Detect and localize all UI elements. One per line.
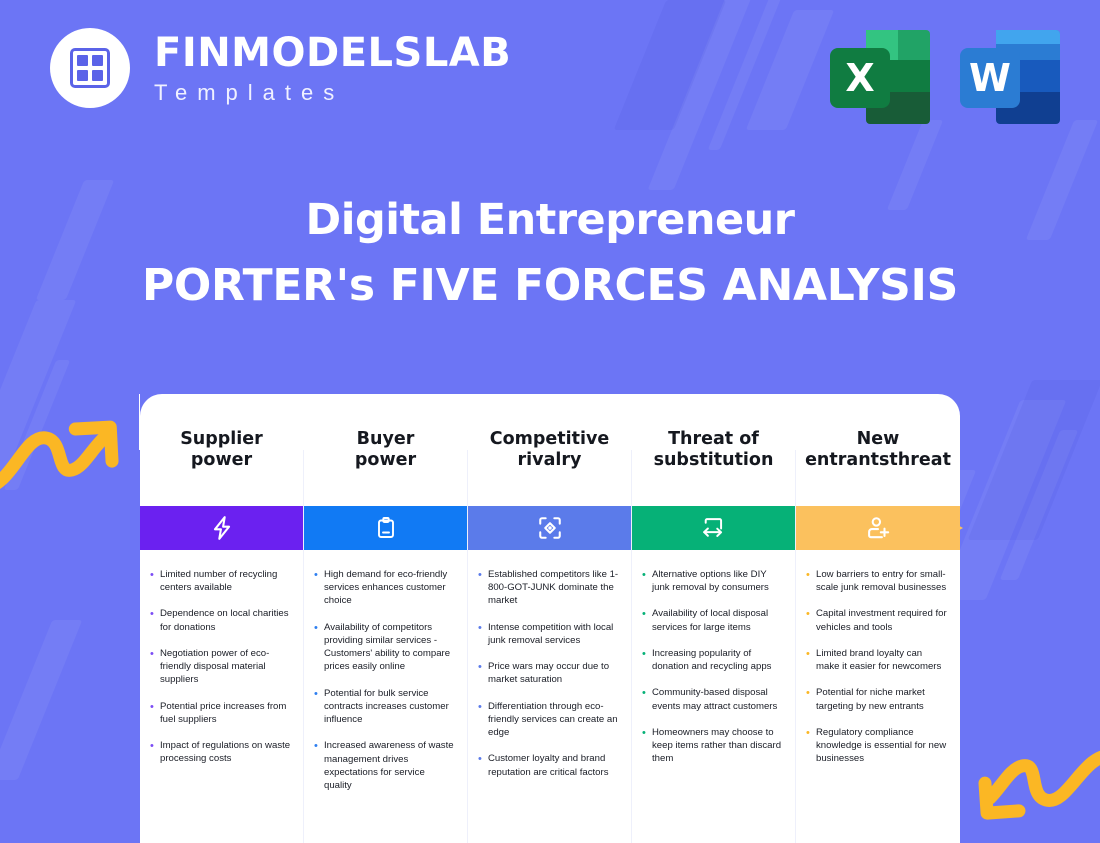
column-header: Buyer power [304,394,467,506]
page-title: PORTER's FIVE FORCES ANALYSIS [0,261,1100,312]
list-item: •Increasing popularity of donation and r… [642,647,783,673]
bullet-list: •Established competitors like 1-800-GOT-… [468,550,631,779]
force-column-buyer-power[interactable]: Buyer power •High demand for eco-friendl… [304,394,468,843]
list-item: •Dependence on local charities for donat… [150,607,291,633]
column-title-line2: power [355,450,416,470]
word-icon-letter: W [960,48,1020,108]
column-title-line2: power [191,450,252,470]
column-title-line2: rivalry [518,450,582,470]
grid-logo-icon [70,48,110,88]
brand-mark [50,28,130,108]
list-item: •Regulatory compliance knowledge is esse… [806,726,948,766]
column-icon-band [140,506,303,550]
list-item: •Intense competition with local junk rem… [478,621,619,647]
word-icon: W [960,30,1060,124]
list-item: •Limited brand loyalty can make it easie… [806,647,948,673]
office-icons: X W [830,30,1060,124]
lightning-bolt-icon [209,514,235,542]
bullet-list: •Limited number of recycling centers ava… [140,550,303,766]
force-column-threat-of-substitution[interactable]: Threat of substitution •Alternative opti… [632,394,796,843]
list-item: •Alternative options like DIY junk remov… [642,568,783,594]
column-header: Competitive rivalry [468,394,631,506]
column-title-line2: entrantsthreat [805,450,951,470]
column-title-line1: New [857,429,900,449]
force-column-new-entrants-threat[interactable]: New entrantsthreat •Low barriers to entr… [796,394,960,843]
column-title-line1: Supplier [180,429,263,449]
brand-text: FINMODELSLAB Templates [154,33,511,104]
column-header: Supplier power [140,394,303,506]
column-icon-band [468,506,631,550]
column-header: New entrantsthreat [796,394,960,506]
list-item: •Increased awareness of waste management… [314,739,455,792]
list-item: •Potential for bulk service contracts in… [314,687,455,727]
focus-target-icon [537,515,563,541]
list-item: •Homeowners may choose to keep items rat… [642,726,783,766]
bullet-list: •Low barriers to entry for small-scale j… [796,550,960,766]
list-item: •Community-based disposal events may att… [642,686,783,712]
bullet-list: •Alternative options like DIY junk remov… [632,550,795,766]
list-item: •Price wars may occur due to market satu… [478,660,619,686]
list-item: •Availability of local disposal services… [642,607,783,633]
squiggle-arrow-down-left-icon [972,748,1100,843]
brand-title: FINMODELSLAB [154,33,511,73]
band-arrowhead-icon [900,506,963,550]
forces-columns: Supplier power •Limited number of recycl… [140,394,960,843]
page-subtitle: Digital Entrepreneur [0,196,1100,245]
brand-subtitle: Templates [154,82,511,104]
list-item: •Established competitors like 1-800-GOT-… [478,568,619,608]
list-item: •Limited number of recycling centers ava… [150,568,291,594]
list-item: •Negotiation power of eco-friendly dispo… [150,647,291,687]
list-item: •Potential price increases from fuel sup… [150,700,291,726]
list-item: •High demand for eco-friendly services e… [314,568,455,608]
list-item: •Availability of competitors providing s… [314,621,455,674]
squiggle-arrow-up-right-icon [0,408,124,500]
page-header: FINMODELSLAB Templates X W [50,28,1060,128]
porters-five-forces-card: Supplier power •Limited number of recycl… [140,394,960,843]
force-column-supplier-power[interactable]: Supplier power •Limited number of recycl… [140,394,304,843]
column-title-line1: Threat of [668,429,759,449]
swap-exchange-icon [700,516,727,541]
force-column-competitive-rivalry[interactable]: Competitive rivalry •Establishe [468,394,632,843]
excel-icon-letter: X [830,48,890,108]
list-item: •Customer loyalty and brand reputation a… [478,752,619,778]
list-item: •Low barriers to entry for small-scale j… [806,568,948,594]
column-icon-band [304,506,467,550]
list-item: •Differentiation through eco-friendly se… [478,700,619,740]
column-icon-band [632,506,795,550]
list-item: •Potential for niche market targeting by… [806,686,948,712]
column-header: Threat of substitution [632,394,795,506]
column-title-line1: Competitive [490,429,610,449]
bullet-list: •High demand for eco-friendly services e… [304,550,467,792]
excel-icon: X [830,30,930,124]
page-title-block: Digital Entrepreneur PORTER's FIVE FORCE… [0,196,1100,312]
brand-logo: FINMODELSLAB Templates [50,28,511,108]
column-title-line1: Buyer [357,429,415,449]
add-user-icon [865,515,891,541]
column-title-line2: substitution [654,450,774,470]
list-item: •Impact of regulations on waste processi… [150,739,291,765]
clipboard-icon [374,514,398,542]
list-item: •Capital investment required for vehicle… [806,607,948,633]
